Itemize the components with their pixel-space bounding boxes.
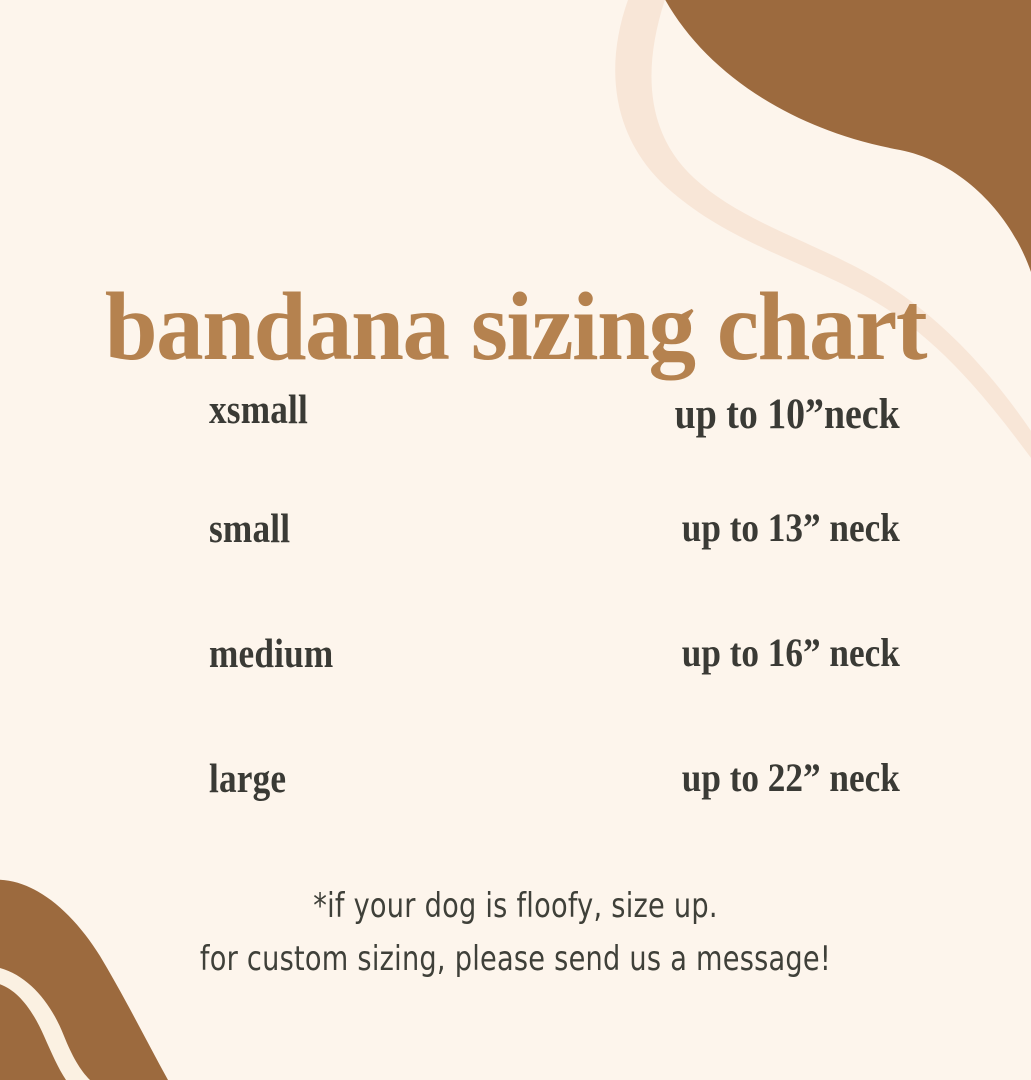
footnote-line-1: *if your dog is floofy, size up. — [103, 880, 928, 933]
size-measurement-large: up to 22” neck — [682, 749, 900, 807]
size-name-large: large — [209, 749, 286, 807]
size-measurement-xsmall: up to 10”neck — [675, 386, 900, 444]
table-row: small up to 13” neck — [0, 499, 1031, 624]
footnote: *if your dog is floofy, size up. for cus… — [0, 880, 1031, 986]
size-name-medium: medium — [209, 624, 333, 682]
table-row: large up to 22” neck — [0, 749, 1031, 874]
table-row: medium up to 16” neck — [0, 624, 1031, 749]
size-name-xsmall: xsmall — [209, 380, 308, 438]
sizing-table: xsmall up to 10”neck small up to 13” nec… — [0, 374, 1031, 874]
footnote-line-2: for custom sizing, please send us a mess… — [103, 933, 928, 986]
size-measurement-medium: up to 16” neck — [682, 624, 900, 682]
sizing-chart-poster: bandana sizing chart xsmall up to 10”nec… — [0, 0, 1031, 1080]
size-measurement-small: up to 13” neck — [682, 499, 900, 557]
size-name-small: small — [209, 499, 290, 557]
table-row: xsmall up to 10”neck — [0, 374, 1031, 499]
page-title: bandana sizing chart — [105, 278, 926, 376]
